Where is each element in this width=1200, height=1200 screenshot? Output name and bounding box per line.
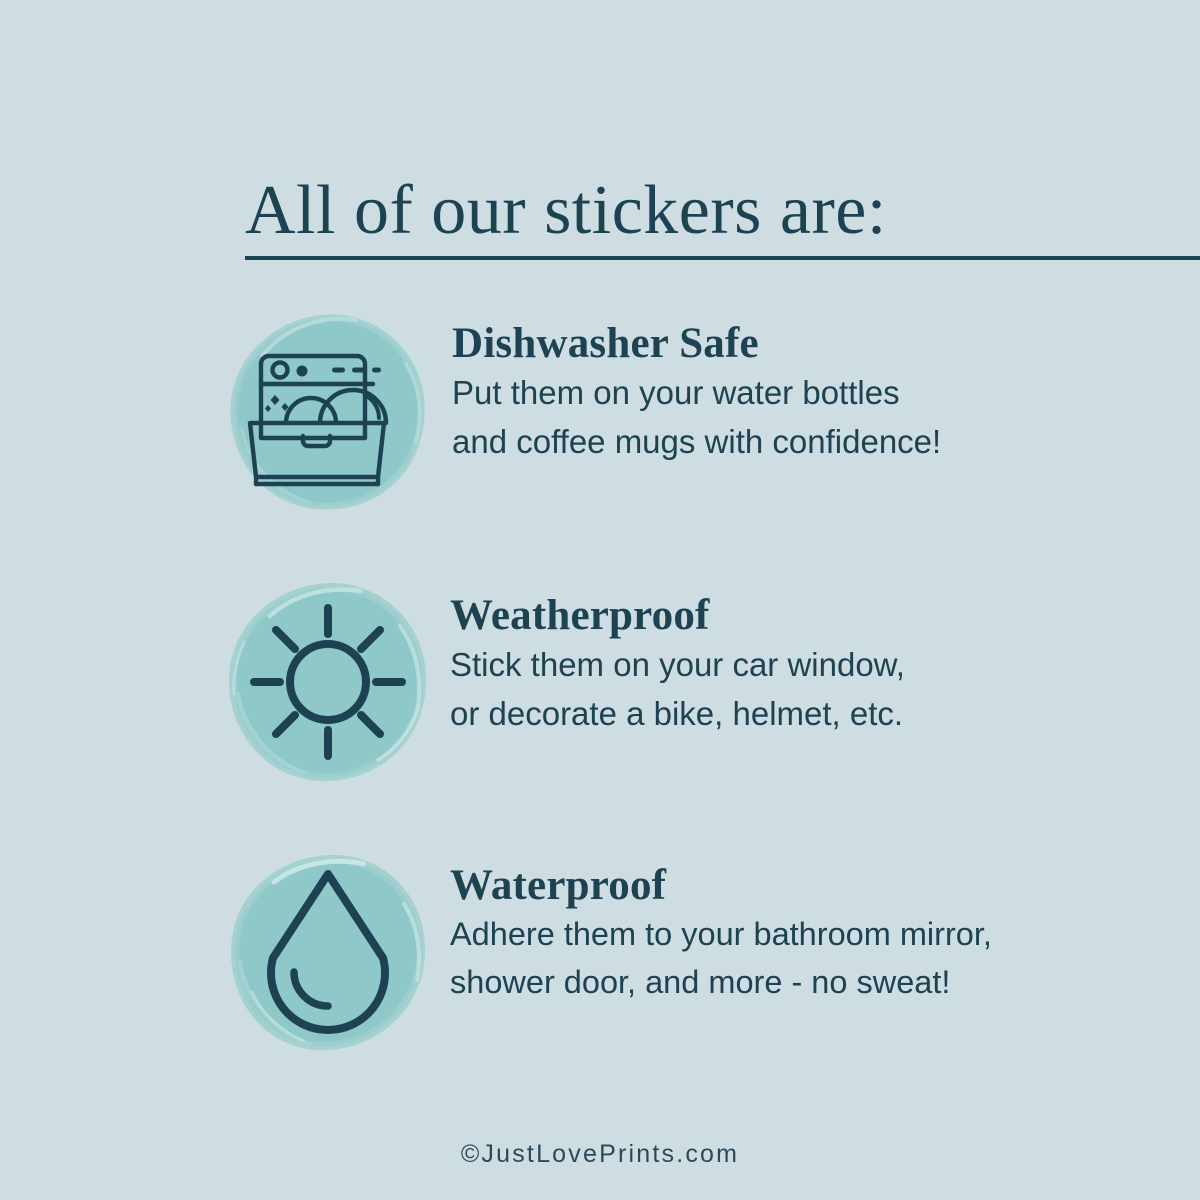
feature-body: Adhere them to your bathroom mirror, sho… bbox=[450, 911, 1180, 1007]
feature-text-weatherproof: Weatherproof Stick them on your car wind… bbox=[450, 594, 1180, 738]
feature-body-line: shower door, and more - no sweat! bbox=[450, 959, 1180, 1007]
footer-credit: ©JustLovePrints.com bbox=[0, 1140, 1200, 1169]
feature-body-line: or decorate a bike, helmet, etc. bbox=[450, 690, 1180, 739]
dishwasher-icon bbox=[228, 312, 428, 512]
feature-row-weatherproof: Weatherproof Stick them on your car wind… bbox=[228, 582, 1188, 797]
feature-row-dishwasher: Dishwasher Safe Put them on your water b… bbox=[228, 312, 1188, 527]
sun-icon bbox=[228, 582, 428, 782]
water-drop-icon bbox=[228, 852, 428, 1052]
feature-heading: Dishwasher Safe bbox=[452, 322, 1182, 365]
feature-row-waterproof: Waterproof Adhere them to your bathroom … bbox=[228, 852, 1188, 1067]
feature-body-line: Adhere them to your bathroom mirror, bbox=[450, 911, 1180, 959]
feature-body-line: and coffee mugs with confidence! bbox=[452, 418, 1182, 467]
feature-text-dishwasher: Dishwasher Safe Put them on your water b… bbox=[452, 322, 1182, 466]
feature-text-waterproof: Waterproof Adhere them to your bathroom … bbox=[450, 864, 1180, 1007]
feature-body-line: Stick them on your car window, bbox=[450, 641, 1180, 690]
feature-body-line: Put them on your water bottles bbox=[452, 369, 1182, 418]
feature-heading: Waterproof bbox=[450, 864, 1180, 907]
page-title: All of our stickers are: bbox=[245, 173, 1165, 249]
feature-body: Stick them on your car window, or decora… bbox=[450, 641, 1180, 738]
title-divider bbox=[245, 256, 1200, 260]
infographic-page: All of our stickers are: bbox=[0, 0, 1200, 1200]
feature-heading: Weatherproof bbox=[450, 594, 1180, 637]
feature-body: Put them on your water bottles and coffe… bbox=[452, 369, 1182, 466]
